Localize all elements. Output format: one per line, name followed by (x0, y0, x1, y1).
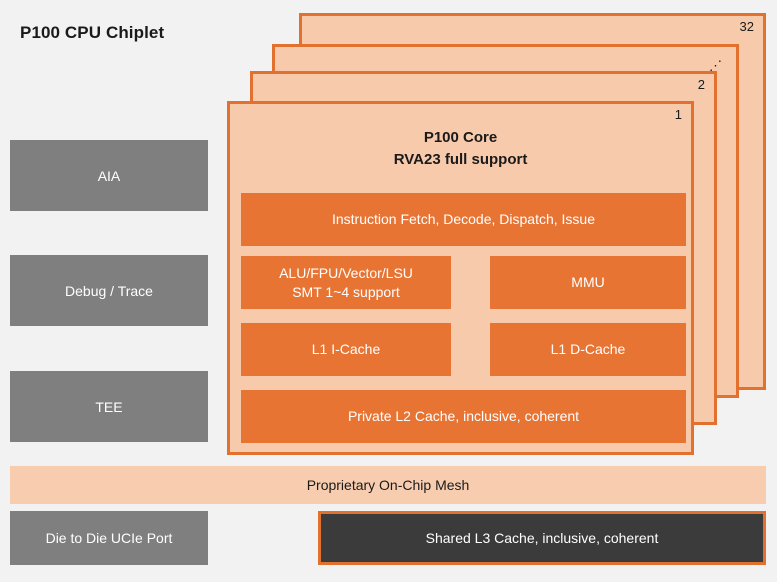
shared-l3-cache-label: Shared L3 Cache, inclusive, coherent (426, 530, 659, 546)
unit-execution-line1: ALU/FPU/Vector/LSU (279, 265, 413, 281)
unit-l2-cache[interactable]: Private L2 Cache, inclusive, coherent (241, 390, 686, 443)
block-tee[interactable]: TEE (10, 371, 208, 442)
on-chip-mesh-label: Proprietary On-Chip Mesh (307, 477, 470, 493)
unit-l2-cache-label: Private L2 Cache, inclusive, coherent (348, 407, 579, 426)
core-card-2-number: 2 (698, 78, 705, 91)
chiplet-diagram: P100 CPU Chiplet 32 ⋰ 2 1 P100 Core RVA2… (0, 0, 777, 582)
unit-l1d-cache-label: L1 D-Cache (551, 340, 626, 359)
block-die-to-die-ucie-port[interactable]: Die to Die UCIe Port (10, 511, 208, 565)
core-title-line2: RVA23 full support (394, 151, 528, 168)
block-aia[interactable]: AIA (10, 140, 208, 211)
unit-mmu-label: MMU (571, 273, 604, 292)
page-title: P100 CPU Chiplet (20, 23, 164, 43)
unit-execution-line2: SMT 1~4 support (292, 284, 400, 300)
unit-frontend[interactable]: Instruction Fetch, Decode, Dispatch, Iss… (241, 193, 686, 246)
unit-l1i-cache[interactable]: L1 I-Cache (241, 323, 451, 376)
block-debug-trace-label: Debug / Trace (65, 283, 153, 299)
block-debug-trace[interactable]: Debug / Trace (10, 255, 208, 326)
unit-l1d-cache[interactable]: L1 D-Cache (490, 323, 686, 376)
block-tee-label: TEE (95, 399, 122, 415)
unit-execution[interactable]: ALU/FPU/Vector/LSU SMT 1~4 support (241, 256, 451, 309)
block-die-to-die-ucie-port-label: Die to Die UCIe Port (46, 530, 173, 546)
core-title: P100 Core RVA23 full support (230, 127, 691, 171)
core-title-line1: P100 Core (424, 129, 497, 146)
unit-execution-labels: ALU/FPU/Vector/LSU SMT 1~4 support (279, 264, 413, 302)
core-card-1-number: 1 (675, 108, 682, 121)
core-card-32-number: 32 (740, 20, 754, 33)
on-chip-mesh-bar[interactable]: Proprietary On-Chip Mesh (10, 466, 766, 504)
unit-frontend-label: Instruction Fetch, Decode, Dispatch, Iss… (332, 210, 595, 229)
unit-l1i-cache-label: L1 I-Cache (312, 340, 380, 359)
shared-l3-cache[interactable]: Shared L3 Cache, inclusive, coherent (318, 511, 766, 565)
unit-mmu[interactable]: MMU (490, 256, 686, 309)
core-card-1[interactable]: 1 P100 Core RVA23 full support Instructi… (227, 101, 694, 455)
block-aia-label: AIA (98, 168, 121, 184)
